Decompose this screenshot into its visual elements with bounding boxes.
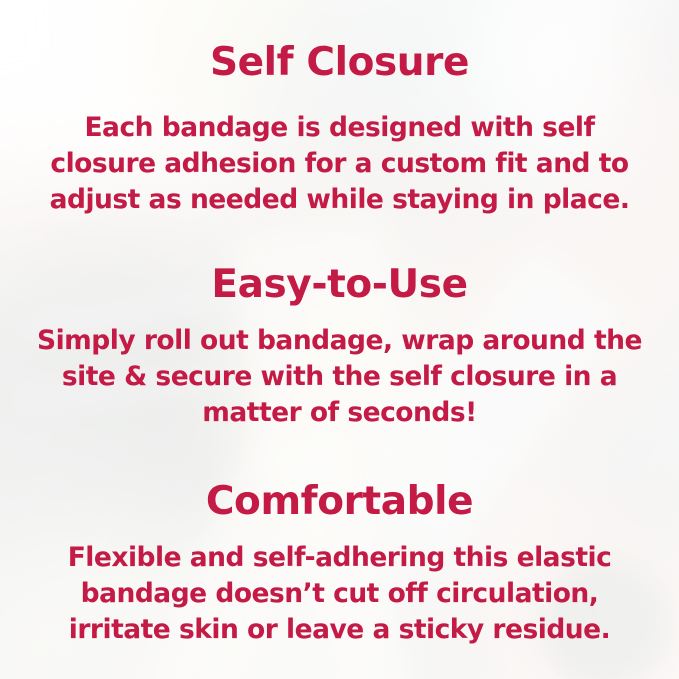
feature-section-comfortable: Comfortable Flexible and self-adhering t… (0, 482, 679, 648)
feature-body-line: Simply roll out bandage, wrap around the (34, 323, 645, 359)
feature-heading-self-closure: Self Closure (0, 43, 679, 82)
feature-body-line: adjust as needed while staying in place. (34, 182, 645, 218)
product-feature-card: Self Closure Each bandage is designed wi… (0, 0, 679, 679)
feature-body-line: matter of seconds! (34, 395, 645, 431)
feature-text-content: Self Closure Each bandage is designed wi… (0, 0, 679, 679)
feature-body-line: site & secure with the self closure in a (34, 359, 645, 395)
feature-heading-easy-to-use: Easy-to-Use (0, 265, 679, 304)
feature-section-self-closure: Self Closure Each bandage is designed wi… (0, 43, 679, 218)
feature-body-line: Flexible and self-adhering this elastic (34, 540, 645, 576)
feature-body-line: Each bandage is designed with self (34, 110, 645, 146)
feature-section-easy-to-use: Easy-to-Use Simply roll out bandage, wra… (0, 265, 679, 431)
feature-body-easy-to-use: Simply roll out bandage, wrap around the… (0, 323, 679, 431)
feature-body-self-closure: Each bandage is designed with self closu… (0, 110, 679, 218)
feature-body-comfortable: Flexible and self-adhering this elastic … (0, 540, 679, 648)
feature-body-line: bandage doesn’t cut off circulation, (34, 576, 645, 612)
feature-heading-comfortable: Comfortable (0, 482, 679, 521)
feature-body-line: irritate skin or leave a sticky residue. (34, 612, 645, 648)
feature-body-line: closure adhesion for a custom fit and to (34, 146, 645, 182)
